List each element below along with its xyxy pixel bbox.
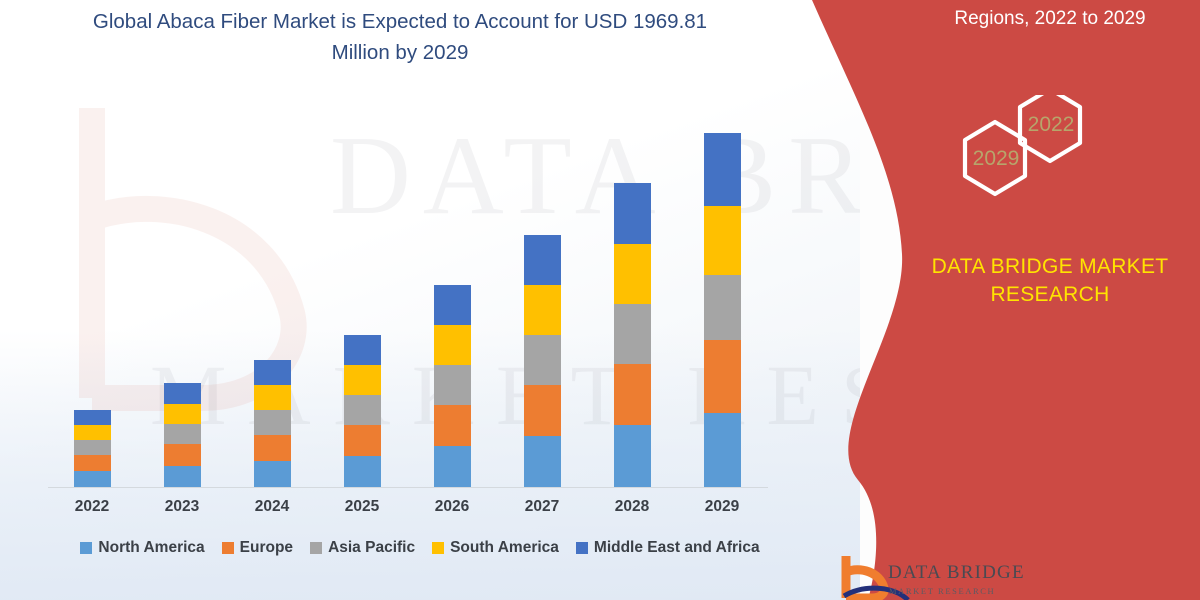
segment-europe (344, 425, 381, 456)
legend-label: Europe (240, 539, 293, 557)
segment-asia-pacific (74, 440, 111, 455)
legend-item-middle-east-and-africa[interactable]: Middle East and Africa (576, 539, 760, 557)
segment-south-america (434, 325, 471, 365)
bar-2024[interactable] (254, 360, 291, 487)
x-tick-2025: 2025 (317, 498, 407, 516)
segment-north-america (434, 446, 471, 487)
legend-swatch-icon (576, 542, 588, 554)
bar-2025[interactable] (344, 335, 381, 487)
hexagon-group: 2029 2022 (925, 95, 1125, 235)
company-logo-tagline: MARKET RESEARCH (889, 586, 995, 596)
legend-item-north-america[interactable]: North America (80, 539, 204, 557)
segment-europe (164, 444, 201, 466)
segment-europe (614, 364, 651, 425)
segment-south-america (344, 365, 381, 395)
segment-north-america (614, 425, 651, 487)
hexagon-label-2022: 2022 (1020, 113, 1082, 137)
brand-line-1: DATA BRIDGE MARKET (932, 255, 1169, 278)
hexagon-label-2029: 2029 (965, 147, 1027, 171)
legend-item-south-america[interactable]: South America (432, 539, 559, 557)
x-tick-2026: 2026 (407, 498, 497, 516)
legend-label: North America (98, 539, 204, 557)
segment-asia-pacific (344, 395, 381, 425)
x-tick-2023: 2023 (137, 498, 227, 516)
segment-middle-east-and-africa (74, 410, 111, 425)
segment-north-america (254, 461, 291, 487)
chart-plot-area: 2022 2023 2024 2025 2026 2027 2028 2029 (0, 0, 820, 600)
bar-2022[interactable] (74, 410, 111, 487)
bar-2028[interactable] (614, 183, 651, 487)
legend-label: Asia Pacific (328, 539, 415, 557)
segment-asia-pacific (704, 275, 741, 340)
x-tick-2028: 2028 (587, 498, 677, 516)
segment-asia-pacific (434, 365, 471, 405)
legend-label: South America (450, 539, 559, 557)
segment-asia-pacific (524, 335, 561, 385)
bar-2027[interactable] (524, 235, 561, 487)
segment-middle-east-and-africa (614, 183, 651, 244)
segment-south-america (164, 404, 201, 424)
legend-swatch-icon (222, 542, 234, 554)
segment-north-america (74, 471, 111, 487)
legend-swatch-icon (310, 542, 322, 554)
bar-2026[interactable] (434, 285, 471, 487)
segment-north-america (704, 413, 741, 487)
segment-south-america (614, 244, 651, 304)
brand-line-2: RESEARCH (990, 283, 1109, 306)
segment-asia-pacific (164, 424, 201, 444)
company-logo-name: DATA BRIDGE (888, 562, 1025, 584)
segment-south-america (254, 385, 291, 410)
x-tick-2029: 2029 (677, 498, 767, 516)
segment-south-america (74, 425, 111, 440)
segment-south-america (524, 285, 561, 335)
brand-name: DATA BRIDGE MARKET RESEARCH (895, 253, 1200, 309)
segment-asia-pacific (254, 410, 291, 435)
x-tick-2024: 2024 (227, 498, 317, 516)
legend-swatch-icon (432, 542, 444, 554)
chart-infographic: DATA BRIDGE MARKET RESEARCH Global Abaca… (0, 0, 1200, 600)
x-tick-2027: 2027 (497, 498, 587, 516)
segment-middle-east-and-africa (704, 133, 741, 206)
segment-middle-east-and-africa (254, 360, 291, 385)
segment-middle-east-and-africa (434, 285, 471, 325)
x-axis-line (48, 487, 768, 488)
right-panel-heading: Regions, 2022 to 2029 (905, 8, 1195, 30)
segment-north-america (164, 466, 201, 487)
bar-2023[interactable] (164, 383, 201, 487)
segment-middle-east-and-africa (524, 235, 561, 285)
chart-legend: North America Europe Asia Pacific South … (40, 539, 800, 557)
legend-item-asia-pacific[interactable]: Asia Pacific (310, 539, 415, 557)
segment-europe (434, 405, 471, 446)
legend-swatch-icon (80, 542, 92, 554)
segment-asia-pacific (614, 304, 651, 364)
segment-europe (524, 385, 561, 436)
segment-north-america (524, 436, 561, 487)
segment-south-america (704, 206, 741, 275)
x-tick-2022: 2022 (47, 498, 137, 516)
segment-europe (254, 435, 291, 461)
segment-europe (74, 455, 111, 471)
segment-middle-east-and-africa (164, 383, 201, 404)
legend-label: Middle East and Africa (594, 539, 760, 557)
bar-2029[interactable] (704, 133, 741, 487)
segment-europe (704, 340, 741, 413)
segment-north-america (344, 456, 381, 487)
segment-middle-east-and-africa (344, 335, 381, 365)
legend-item-europe[interactable]: Europe (222, 539, 293, 557)
